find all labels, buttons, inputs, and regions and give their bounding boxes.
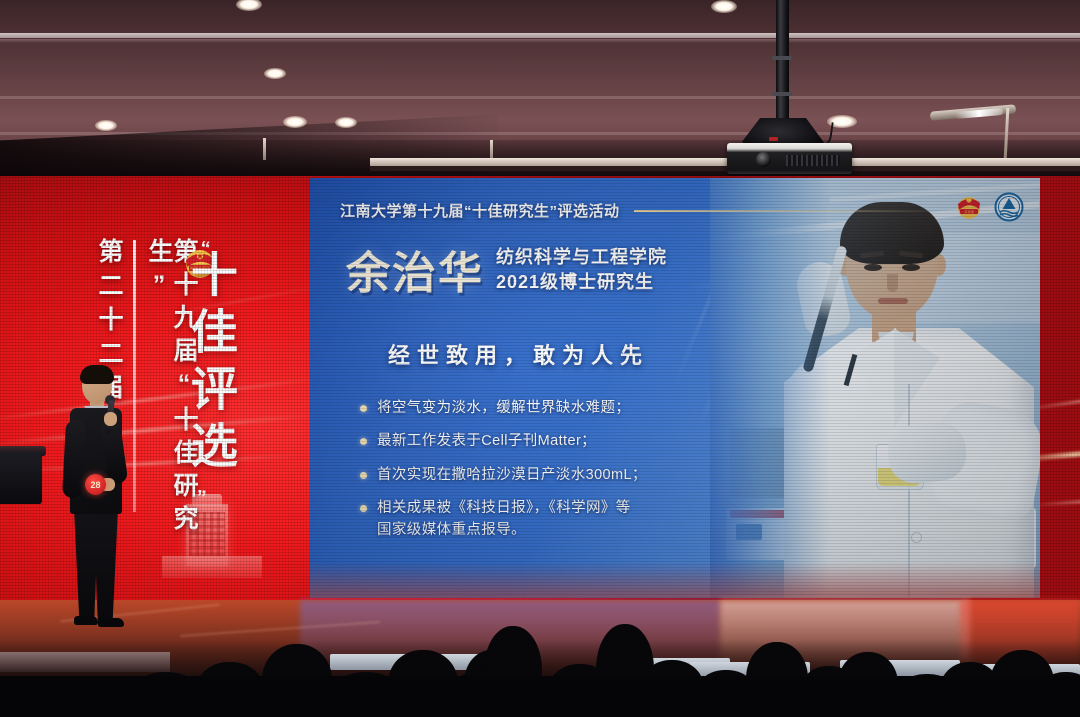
banner-calligraphy: 十佳评选 (184, 250, 233, 500)
student-motto: 经世致用，敢为人先 (388, 338, 649, 370)
researcher-eye (864, 264, 882, 271)
audience-foreground-dark (0, 676, 1080, 717)
ceiling-beam (0, 33, 1080, 38)
bullet-dot-icon (360, 505, 367, 512)
researcher-mouth (878, 298, 908, 304)
ceiling-hanger (263, 138, 266, 160)
downlight-icon (283, 116, 307, 128)
speaker-shoe (98, 618, 124, 627)
student-program: 2021级博士研究生 (496, 271, 667, 296)
photo-blue-blend (710, 178, 830, 598)
dark-podium (0, 452, 42, 504)
student-name: 余治华 (346, 252, 484, 296)
communist-youth-league-emblem: 共青团 (954, 192, 984, 222)
presentation-slide: 纺织科学与工程 (310, 178, 1040, 598)
svg-text:共青团: 共青团 (964, 209, 974, 214)
coat-button (911, 532, 922, 543)
achievement-list: 将空气变为淡水，缓解世界缺水难题； 最新工作发表于Cell子刊Matter； 首… (360, 398, 690, 553)
downlight-icon (335, 117, 357, 128)
coat-button-line (908, 384, 910, 598)
host-speaker: 28 (60, 368, 130, 638)
banner-divider (133, 240, 136, 512)
speaker-hand (104, 412, 117, 426)
slide-header-title: 江南大学第十九届“十佳研究生”评选活动 (340, 200, 620, 221)
speaker-hair (80, 365, 114, 384)
ceiling-band (0, 96, 1080, 99)
ceiling-rail-shadow (370, 166, 1080, 171)
list-item: 首次实现在撒哈拉沙漠日产淡水300mL； (360, 465, 690, 486)
projector-pole-ring (772, 92, 792, 96)
auditorium-scene: 第二十二届 第十九届“十佳研究生” 中国共青团 “ 十佳评选 ” (0, 0, 1080, 717)
projector-pole (776, 0, 789, 128)
bullet-dot-icon (360, 438, 367, 445)
downlight-icon (95, 120, 117, 131)
speaker-shoe (74, 616, 98, 625)
list-item: 将空气变为淡水，缓解世界缺水难题； (360, 398, 690, 419)
bullet-dot-icon (360, 472, 367, 479)
slide-header: 江南大学第十九届“十佳研究生”评选活动 (340, 200, 934, 221)
researcher-eye (902, 264, 920, 271)
list-item-text: 最新工作发表于Cell子刊Matter； (377, 431, 596, 452)
projector-pole-ring (772, 56, 792, 60)
list-item-text: 将空气变为淡水，缓解世界缺水难题； (377, 398, 630, 419)
projector-vent (786, 155, 840, 166)
slide-logo-group: 共青团 (954, 192, 1024, 222)
speaker-arm (62, 420, 86, 499)
list-item: 最新工作发表于Cell子刊Matter； (360, 431, 690, 452)
list-item-line: 国家级媒体重点报导。 (377, 522, 526, 538)
student-lab-photo: 纺织科学与工程 (710, 178, 1040, 598)
researcher-nose (887, 274, 898, 292)
list-item-text: 首次实现在撒哈拉沙漠日产淡水300mL； (377, 465, 647, 486)
downlight-icon (236, 0, 262, 11)
slide-header-gold-line (634, 210, 934, 212)
downlight-icon (711, 0, 737, 13)
student-college: 纺织科学与工程学院 (496, 246, 667, 271)
seat-row (0, 652, 170, 672)
downlight-icon (264, 68, 286, 79)
jiangnan-university-logo (994, 192, 1024, 222)
bullet-dot-icon (360, 405, 367, 412)
projector-lens-icon (756, 152, 771, 167)
projector-indicator (769, 137, 778, 141)
list-item: 相关成果被《科技日报》，《科学网》等 国家级媒体重点报导。 (360, 498, 690, 541)
ceiling-beam-shadow (0, 39, 1080, 43)
student-identity: 余治华 纺织科学与工程学院 2021级博士研究生 (346, 246, 667, 296)
auditorium-ceiling (0, 0, 1080, 182)
list-item-text: 相关成果被《科技日报》，《科学网》等 国家级媒体重点报导。 (377, 498, 631, 541)
speaker-legs (74, 508, 118, 620)
list-item-line: 相关成果被《科技日报》，《科学网》等 (377, 500, 631, 516)
ceiling-hanger (490, 140, 493, 160)
contestant-number-badge: 28 (85, 474, 106, 495)
